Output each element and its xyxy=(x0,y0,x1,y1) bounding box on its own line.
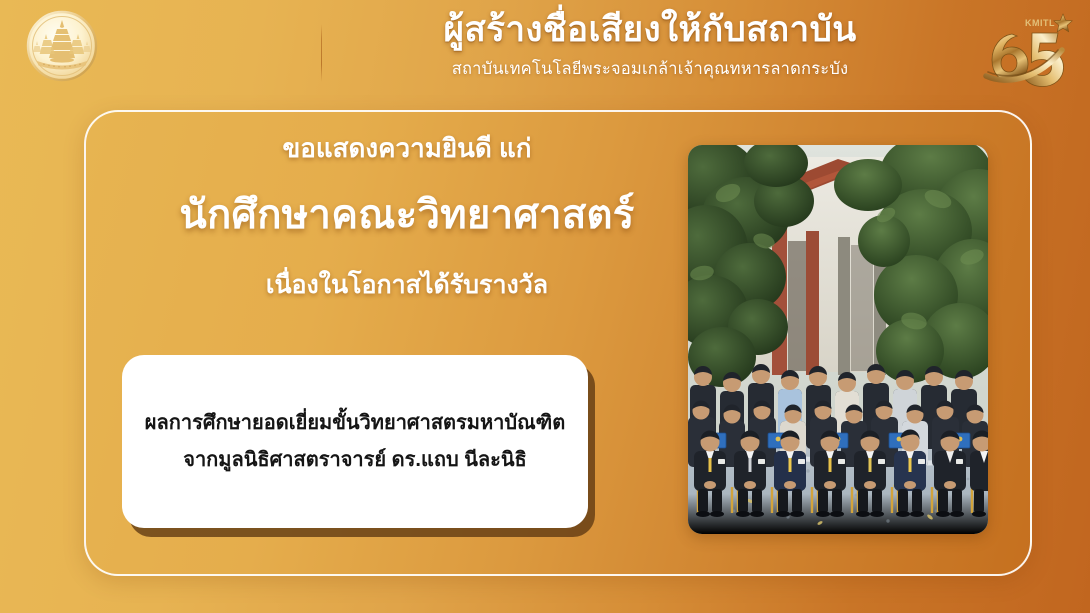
award-detail-card: ผลการศึกษายอดเยี่ยมขั้นวิทยาศาสตรมหาบัณฑ… xyxy=(122,355,588,528)
header-divider xyxy=(321,24,322,82)
anniversary-brand-text: KMITL xyxy=(1025,18,1055,28)
congratulation-text-block: ขอแสดงความยินดี แก่ นักศึกษาคณะวิทยาศาสต… xyxy=(112,130,702,303)
banner-header: ผู้สร้างชื่อเสียงให้กับสถาบัน สถาบันเทคโ… xyxy=(0,0,1090,104)
recipient-label: นักศึกษาคณะวิทยาศาสตร์ xyxy=(112,188,702,242)
institution-subtitle: สถาบันเทคโนโลยีพระจอมเกล้าเจ้าคุณทหารลาด… xyxy=(330,56,970,82)
page-title: ผู้สร้างชื่อเสียงให้กับสถาบัน xyxy=(330,8,970,52)
kmitl-seal-icon xyxy=(24,8,100,84)
award-line-1: ผลการศึกษายอดเยี่ยมขั้นวิทยาศาสตรมหาบัณฑ… xyxy=(145,405,565,442)
occasion-label: เนื่องในโอกาสได้รับรางวัล xyxy=(112,268,702,303)
banner-stage: ผู้สร้างชื่อเสียงให้กับสถาบัน สถาบันเทคโ… xyxy=(0,0,1090,613)
congrats-label: ขอแสดงความยินดี แก่ xyxy=(112,130,702,166)
header-title-group: ผู้สร้างชื่อเสียงให้กับสถาบัน สถาบันเทคโ… xyxy=(330,8,970,82)
group-photo xyxy=(688,145,988,534)
award-line-2: จากมูลนิธิศาสตราจารย์ ดร.แถบ นีละนิธิ xyxy=(183,442,527,479)
kmitl-65th-anniversary-icon: KMITL xyxy=(978,6,1076,90)
